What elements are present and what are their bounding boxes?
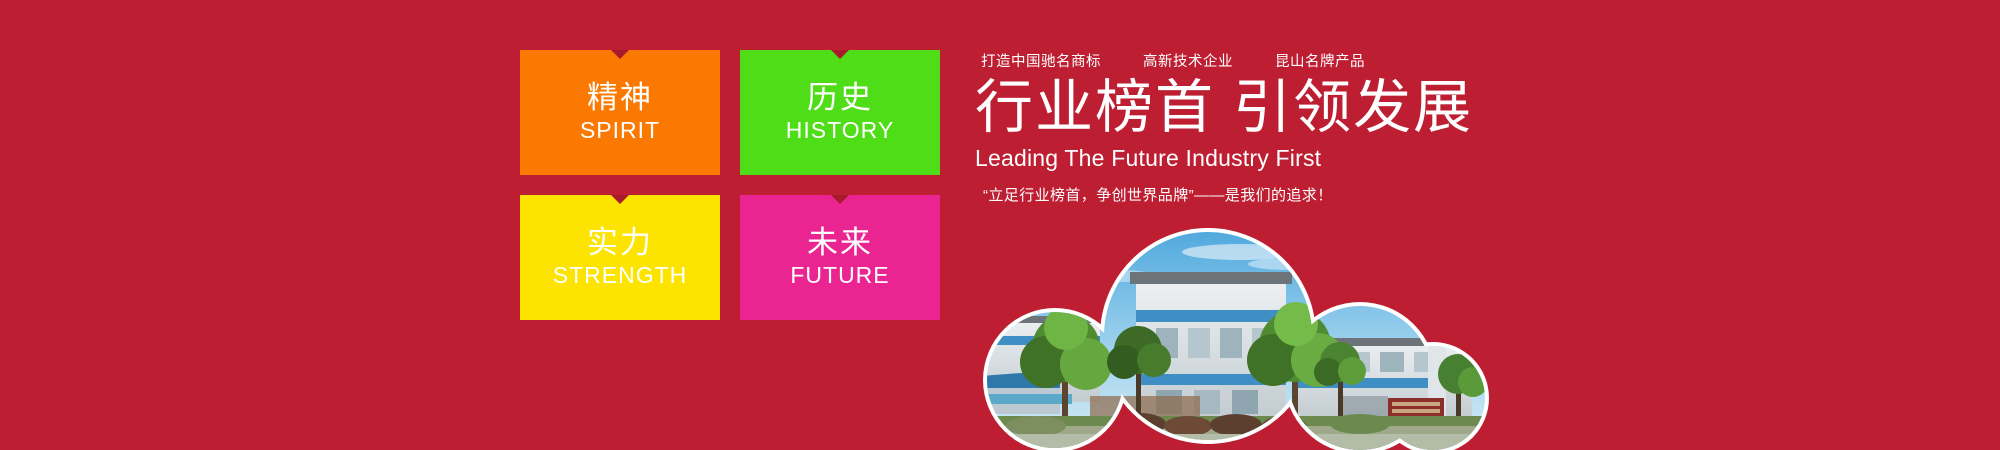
card-title-en: STRENGTH [553, 262, 688, 290]
card-title-cn: 精神 [587, 81, 653, 116]
notch-icon [831, 195, 849, 204]
card-title-en: FUTURE [790, 262, 889, 290]
eyebrow-item-2: 昆山名牌产品 [1275, 52, 1365, 72]
factory-photo-cloud [940, 228, 1500, 450]
photo-content [940, 228, 1500, 450]
card-title-cn: 实力 [587, 226, 653, 261]
eyebrow-item-1: 高新技术企业 [1143, 52, 1233, 72]
card-title-cn: 未来 [807, 226, 873, 261]
english-subheadline: Leading The Future Industry First [975, 144, 1495, 173]
eyebrow-item-0: 打造中国驰名商标 [981, 52, 1101, 72]
card-title-en: SPIRIT [580, 117, 660, 145]
card-title-cn: 历史 [807, 81, 873, 116]
card-title-en: HISTORY [786, 117, 894, 145]
promo-banner: 精神 SPIRIT 历史 HISTORY 实力 STRENGTH 未来 FUTU… [0, 0, 2000, 450]
photo-cloud-svg [940, 228, 1500, 450]
card-strength[interactable]: 实力 STRENGTH [520, 195, 720, 320]
notch-icon [831, 50, 849, 59]
notch-icon [611, 50, 629, 59]
card-future[interactable]: 未来 FUTURE [740, 195, 940, 320]
slogan-quote: “立足行业榜首，争创世界品牌”——是我们的追求！ [975, 185, 1495, 206]
notch-icon [611, 195, 629, 204]
value-card-grid: 精神 SPIRIT 历史 HISTORY 实力 STRENGTH 未来 FUTU… [520, 50, 940, 320]
headline-copy-block: 打造中国驰名商标 高新技术企业 昆山名牌产品 行业榜首 引领发展 Leading… [975, 52, 1495, 206]
main-headline: 行业榜首 引领发展 [975, 77, 1495, 140]
card-spirit[interactable]: 精神 SPIRIT [520, 50, 720, 175]
eyebrow-tagline-row: 打造中国驰名商标 高新技术企业 昆山名牌产品 [975, 52, 1495, 72]
card-history[interactable]: 历史 HISTORY [740, 50, 940, 175]
